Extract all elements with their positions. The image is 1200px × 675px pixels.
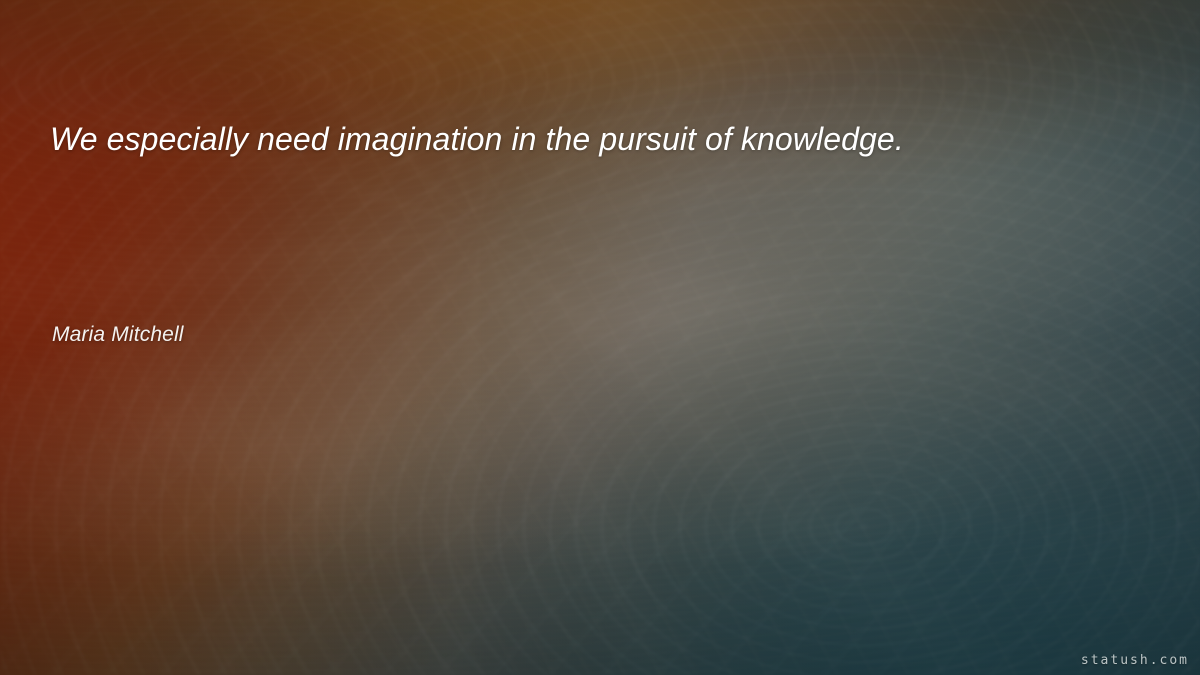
site-watermark: statush.com — [1081, 653, 1189, 668]
quote-author: Maria Mitchell — [52, 321, 184, 349]
quote-body: We especially need imagination in the pu… — [50, 118, 1160, 160]
quote-card: We especially need imagination in the pu… — [0, 0, 1200, 675]
